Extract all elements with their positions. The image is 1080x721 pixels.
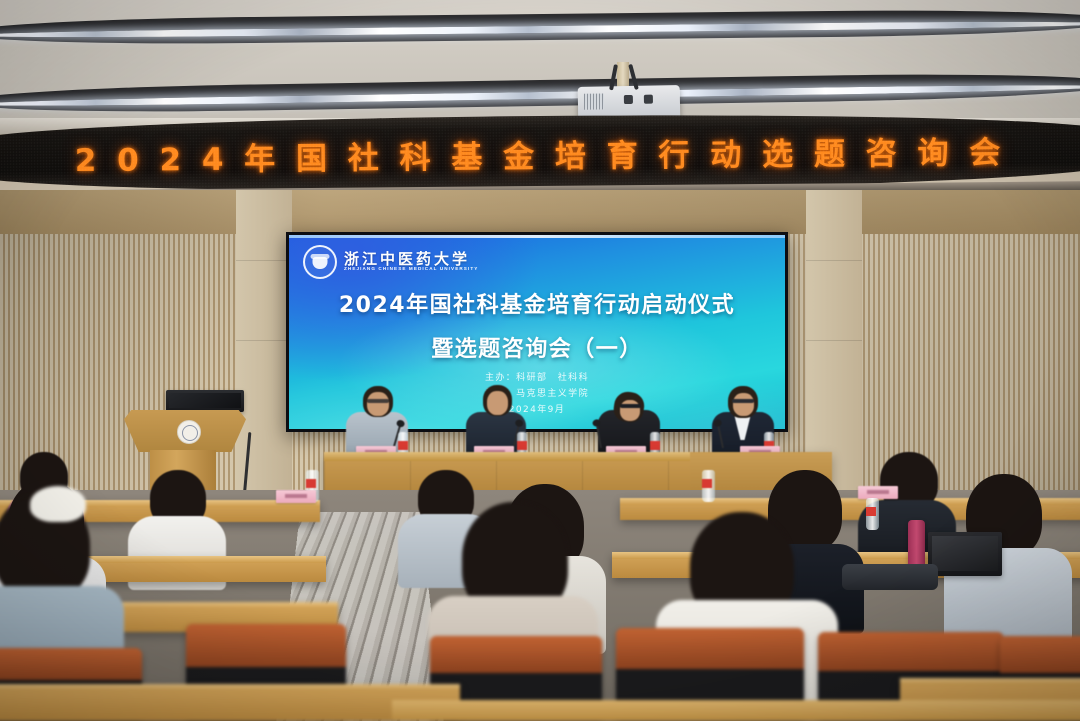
photo-scene: 2 0 2 4 年 国 社 科 基 金 培 育 行 动 选 题 咨 询 会 浙江…: [0, 0, 1080, 721]
slide-title: 2024年国社科基金培育行动启动仪式 暨选题咨询会（一）: [289, 287, 785, 363]
university-name-cn: 浙江中医药大学: [344, 252, 478, 268]
slide-subtitle-line1: 主办：科研部 社科科: [289, 371, 785, 387]
name-card: [276, 490, 316, 503]
water-bottle: [866, 498, 879, 530]
projector-knob: [644, 95, 653, 104]
slide-title-line1: 2024年国社科基金培育行动启动仪式: [289, 287, 785, 319]
slide-university-logo: 浙江中医药大学 ZHEJIANG CHINESE MEDICAL UNIVERS…: [303, 245, 478, 279]
desk-row-foreground: [0, 684, 460, 721]
projector-knob: [624, 95, 633, 104]
slide-title-line2: 暨选题咨询会（一）: [289, 331, 785, 363]
university-name-en: ZHEJIANG CHINESE MEDICAL UNIVERSITY: [344, 267, 478, 272]
desk-edge-foreground: [392, 700, 1080, 721]
podium-monitor: [166, 390, 244, 412]
screen-top-highlight: [289, 235, 785, 238]
wall-pier-left: [236, 190, 292, 490]
name-card: [858, 486, 898, 499]
laptop: [928, 532, 1002, 576]
wall-pier-right: [806, 190, 862, 490]
wall-upper-band: [0, 190, 1080, 234]
dark-bag: [842, 564, 938, 590]
pink-thermos: [908, 520, 925, 568]
university-seal-icon: [177, 420, 201, 444]
university-emblem-icon: [303, 245, 337, 279]
water-bottle: [702, 470, 715, 502]
projector-vent: [584, 93, 604, 109]
